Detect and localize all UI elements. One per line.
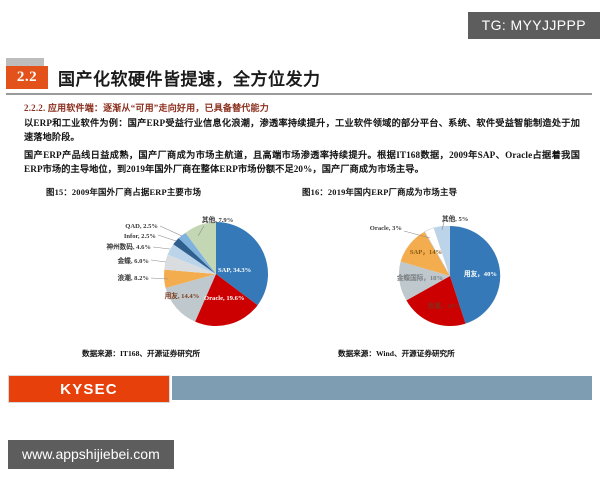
pie-label-other: 其他, 7.9% — [202, 215, 233, 224]
pie-label-qad: QAD, 2.5% — [125, 223, 158, 230]
kysec-logo-text: KYSEC — [60, 381, 118, 398]
leader-line-infor — [158, 235, 176, 241]
url-watermark: www.appshijiebei.com — [8, 440, 174, 469]
pie-label-sap: SAP, 34.3% — [218, 267, 251, 274]
pie-chart-2009-svg: 其他, 7.9% QAD, 2.5% Infor, 2.5% 神州数码, 4.6… — [98, 208, 288, 340]
figure-15-source: 数据来源：IT168、开源证券研究所 — [82, 348, 200, 359]
leader-line-digitalchina — [153, 247, 170, 249]
body-paragraph-1: 以ERP和工业软件为例：国产ERP受益行业信息化浪潮，渗透率持续提升，工业软件领… — [24, 116, 580, 144]
pie-chart-2019-svg: Oracle, 3% 其他, 5% 用友，40% 浪潮，20% 金蝶国际，18%… — [346, 208, 546, 340]
pie-label-kingdee-2019-text: 金蝶国际，18% — [396, 273, 443, 282]
body-paragraph-2: 国产ERP产品线日益成熟，国产厂商成为市场主航道，且高端市场渗透率持续提升。根据… — [24, 148, 580, 176]
figure-16-title: 图16：2019年国内ERP厂商成为市场主导 — [302, 186, 552, 198]
pie-chart-2019: Oracle, 3% 其他, 5% 用友，40% 浪潮，20% 金蝶国际，18%… — [346, 208, 546, 340]
pie-label-kingdee: 金蝶, 6.0% — [117, 256, 149, 265]
footer-accent-bar — [172, 376, 592, 400]
pie-label-oracle-2019-text: Oracle, 3% — [370, 225, 402, 232]
footer: KYSEC — [0, 375, 600, 401]
header-divider — [6, 93, 592, 95]
pie-chart-2009: 其他, 7.9% QAD, 2.5% Infor, 2.5% 神州数码, 4.6… — [98, 208, 288, 340]
pie-label-yonyou-2019-text: 用友，40% — [464, 269, 497, 278]
figure-15-title: 图15：2009年国外厂商占据ERP主要市场 — [46, 186, 296, 198]
pie-label-oracle: Oracle, 19.6% — [204, 295, 244, 302]
pie-label-infor: Infor, 2.5% — [124, 233, 156, 240]
figure-16: 图16：2019年国内ERP厂商成为市场主导 — [302, 186, 552, 366]
sub-heading: 2.2.2. 应用软件端：逐渐从“可用”走向好用，已具备替代能力 — [24, 101, 269, 114]
page-title: 国产化软硬件皆提速，全方位发力 — [58, 65, 321, 90]
pie-label-inspur-2019-text: 浪潮，20% — [428, 301, 461, 310]
header-grey-stub — [6, 58, 44, 66]
figure-15-canvas: 其他, 7.9% QAD, 2.5% Infor, 2.5% 神州数码, 4.6… — [46, 202, 296, 342]
figure-15: 图15：2009年国外厂商占据ERP主要市场 — [46, 186, 296, 366]
kysec-logo: KYSEC — [8, 375, 170, 403]
pie-label-inspur: 浪潮, 8.2% — [118, 273, 149, 282]
section-number-badge: 2.2 — [6, 66, 48, 89]
leader-line-qad — [160, 226, 182, 236]
figure-16-canvas: Oracle, 3% 其他, 5% 用友，40% 浪潮，20% 金蝶国际，18%… — [302, 202, 552, 342]
tg-watermark-badge: TG: MYYJJPPP — [468, 12, 600, 39]
pie-label-yonyou: 用友, 14.4% — [165, 291, 200, 300]
pie-label-sap-2019-text: SAP，14% — [410, 249, 442, 256]
figure-16-source: 数据来源：Wind、开源证券研究所 — [338, 348, 455, 359]
pie-label-other-2019-text: 其他, 5% — [442, 214, 468, 223]
slide-page: TG: MYYJJPPP 2.2 国产化软硬件皆提速，全方位发力 2.2.2. … — [0, 0, 600, 480]
pie-label-digitalchina: 神州数码, 4.6% — [106, 242, 151, 251]
leader-line-kingdee — [151, 260, 166, 262]
section-header: 2.2 国产化软硬件皆提速，全方位发力 — [0, 66, 600, 96]
